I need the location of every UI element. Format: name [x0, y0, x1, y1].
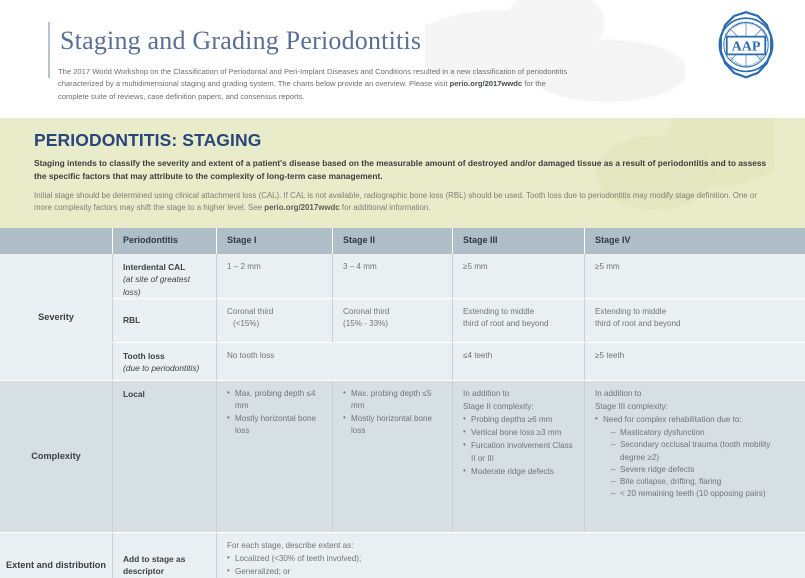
rbl-stage-1-line2: (<15%): [227, 318, 259, 330]
title-accent-rule: [48, 22, 50, 78]
severity-rows: Interdental CAL (at site of greatest los…: [112, 254, 805, 380]
list-item: Mostly horizontal bone loss: [227, 413, 322, 437]
rbl-stage-3-line2: third of root and beyond: [463, 319, 549, 328]
complexity-stage-4-list: Need for complex rehabilitation due to: …: [595, 414, 795, 500]
extent-group: Extent and distribution Add to stage as …: [0, 532, 805, 578]
row-label-severity: Severity: [0, 254, 112, 380]
rbl-stage-3-line1: Extending to middle: [463, 307, 534, 316]
complexity-stage-4-intro-line2: Stage III complexity:: [595, 401, 795, 413]
banner-note-part2: for additional information.: [340, 203, 431, 212]
param-interdental-cal: Interdental CAL (at site of greatest los…: [112, 254, 216, 298]
param-interdental-cal-title: Interdental CAL: [123, 262, 185, 272]
list-item: Generalized; or: [227, 566, 795, 578]
severity-group: Severity Interdental CAL (at site of gre…: [0, 254, 805, 380]
banner-lead-text: Staging intends to classify the severity…: [34, 157, 774, 183]
list-item: Secondary occlusal trauma (tooth mobilit…: [611, 439, 795, 463]
cal-stage-1: 1 – 2 mm: [216, 254, 332, 298]
page-header: Staging and Grading Periodontitis The 20…: [0, 0, 805, 118]
intro-link[interactable]: perio.org/2017wwdc: [450, 79, 523, 88]
cal-stage-4: ≥5 mm: [584, 254, 805, 298]
page-title: Staging and Grading Periodontitis: [60, 26, 421, 56]
param-local-title: Local: [123, 389, 145, 399]
param-add-to-stage-text: Add to stage as descriptor: [123, 553, 206, 578]
header-stage-4: Stage IV: [584, 228, 805, 254]
svg-text:AAP: AAP: [732, 39, 761, 55]
tooth-loss-stage-3: ≤4 teeth: [452, 343, 584, 380]
rbl-stage-2-line2: (15% - 33%): [343, 319, 388, 328]
complexity-stage-4-intro-line1: In addition to: [595, 388, 795, 400]
complexity-stage-2: Max. probing depth ≤5 mm Mostly horizont…: [332, 381, 452, 532]
rbl-stage-4-line2: third of root and beyond: [595, 319, 681, 328]
complexity-stage-1: Max. probing depth ≤4 mm Mostly horizont…: [216, 381, 332, 532]
list-item: Vertical bone loss ≥3 mm: [463, 427, 574, 439]
complexity-stage-4: In addition to Stage III complexity: Nee…: [584, 381, 805, 532]
header-stage-3: Stage III: [452, 228, 584, 254]
param-tooth-loss: Tooth loss (due to periodontitis): [112, 343, 216, 380]
list-item: Mostly horizontal bone loss: [343, 413, 442, 437]
complexity-stage-3: In addition to Stage II complexity: Prob…: [452, 381, 584, 532]
rbl-stage-1-line1: Coronal third: [227, 307, 273, 316]
param-interdental-cal-sub: (at site of greatest loss): [123, 274, 190, 297]
banner-title: PERIODONTITIS: STAGING: [34, 130, 779, 151]
list-item: Moderate ridge defects: [463, 466, 574, 478]
table-row-tooth-loss: Tooth loss (due to periodontitis) No too…: [112, 342, 805, 380]
tooth-loss-stage-4: ≥5 teeth: [584, 343, 805, 380]
aap-logo-icon: AAP THE AMERICAN ACADEMY OF PERIODONTOLO…: [709, 10, 783, 84]
rbl-stage-1: Coronal third (<15%): [216, 299, 332, 342]
complexity-stage-3-intro-line2: Stage II complexity:: [463, 401, 574, 413]
rbl-stage-2-line1: Coronal third: [343, 307, 389, 316]
table-header-row: Periodontitis Stage I Stage II Stage III…: [0, 228, 805, 254]
param-tooth-loss-title: Tooth loss: [123, 351, 165, 361]
header-blank: [0, 228, 112, 254]
list-item: Furcation involvement Class II or III: [463, 440, 574, 464]
row-label-complexity: Complexity: [0, 381, 112, 532]
list-item: Severe ridge defects: [611, 464, 795, 476]
param-rbl-title: RBL: [123, 314, 140, 327]
cal-stage-2: 3 – 4 mm: [332, 254, 452, 298]
periodontitis-staging-infographic: Staging and Grading Periodontitis The 20…: [0, 0, 805, 578]
intro-paragraph: The 2017 World Workshop on the Classific…: [58, 66, 578, 103]
param-rbl: RBL: [112, 299, 216, 342]
cal-stage-3: ≥5 mm: [452, 254, 584, 298]
complexity-stage-1-list: Max. probing depth ≤4 mm Mostly horizont…: [227, 388, 322, 438]
extent-list: Localized (<30% of teeth involved); Gene…: [227, 553, 795, 578]
list-item: Max. probing depth ≤5 mm: [343, 388, 442, 412]
header-stage-2: Stage II: [332, 228, 452, 254]
tooth-loss-stage-1-2: No tooth loss: [216, 343, 452, 380]
param-tooth-loss-sub: (due to periodontitis): [123, 363, 199, 373]
staging-banner: PERIODONTITIS: STAGING Staging intends t…: [0, 118, 805, 228]
rbl-stage-4-line1: Extending to middle: [595, 307, 666, 316]
list-item: Bite collapse, drifting, flaring: [611, 476, 795, 488]
extent-description: For each stage, describe extent as: Loca…: [216, 533, 805, 578]
list-item: Need for complex rehabilitation due to: …: [595, 414, 795, 500]
complexity-stage-2-list: Max. probing depth ≤5 mm Mostly horizont…: [343, 388, 442, 438]
banner-note-link[interactable]: perio.org/2017wwdc: [264, 203, 339, 212]
rbl-stage-3: Extending to middle third of root and be…: [452, 299, 584, 342]
complexity-stage-3-list: Probing depths ≥6 mm Vertical bone loss …: [463, 414, 574, 478]
staging-table: Periodontitis Stage I Stage II Stage III…: [0, 228, 805, 578]
complexity-stage-4-item-text: Need for complex rehabilitation due to:: [603, 415, 742, 424]
complexity-stage-3-intro-line1: In addition to: [463, 388, 574, 400]
table-row-rbl: RBL Coronal third (<15%) Coronal third (…: [112, 298, 805, 342]
table-row-interdental-cal: Interdental CAL (at site of greatest los…: [112, 254, 805, 298]
list-item: Max. probing depth ≤4 mm: [227, 388, 322, 412]
complexity-stage-4-sublist: Masticatory dysfunction Secondary occlus…: [603, 427, 795, 500]
list-item: < 20 remaining teeth (10 opposing pairs): [611, 488, 795, 500]
list-item: Masticatory dysfunction: [611, 427, 795, 439]
param-local: Local: [112, 381, 216, 532]
list-item: Localized (<30% of teeth involved);: [227, 553, 795, 565]
rbl-stage-4: Extending to middle third of root and be…: [584, 299, 805, 342]
header-periodontitis: Periodontitis: [112, 228, 216, 254]
complexity-group: Complexity Local Max. probing depth ≤4 m…: [0, 380, 805, 532]
extent-intro: For each stage, describe extent as:: [227, 540, 795, 552]
banner-note-text: Initial stage should be determined using…: [34, 190, 774, 215]
row-label-extent-distribution: Extent and distribution: [0, 533, 112, 578]
param-add-to-stage-descriptor: Add to stage as descriptor: [112, 533, 216, 578]
list-item: Probing depths ≥6 mm: [463, 414, 574, 426]
header-stage-1: Stage I: [216, 228, 332, 254]
rbl-stage-2: Coronal third (15% - 33%): [332, 299, 452, 342]
